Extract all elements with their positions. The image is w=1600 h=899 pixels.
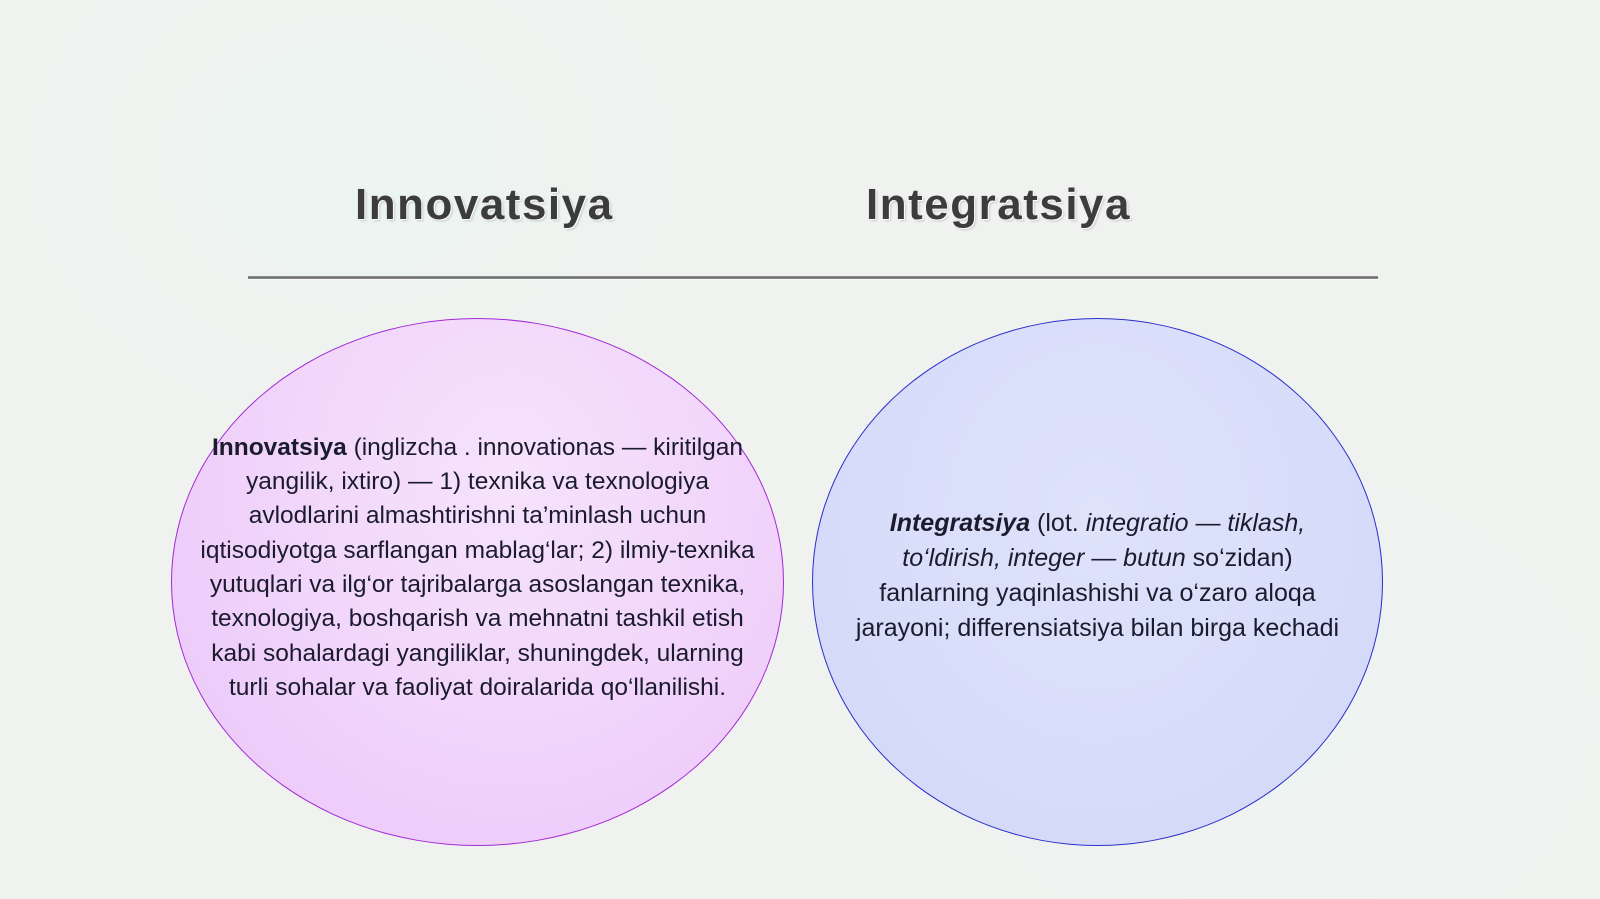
ellipse-integratsiya: Integratsiya (lot. integratio — tiklash,… [812, 318, 1383, 846]
definition-text-integratsiya: Integratsiya (lot. integratio — tiklash,… [813, 506, 1382, 646]
definition-open-paren-integratsiya: (lot. [1030, 509, 1086, 537]
heading-innovatsiya: Innovatsiya [355, 183, 614, 227]
ellipse-innovatsiya: Innovatsiya (inglizcha . innovationas — … [171, 318, 784, 846]
slide-canvas: Innovatsiya Integratsiya Innovatsiya (in… [0, 0, 1600, 899]
definition-text-innovatsiya: Innovatsiya (inglizcha . innovationas — … [172, 431, 783, 705]
definition-body-innovatsiya: (inglizcha . innovationas — kiritilgan y… [200, 434, 754, 701]
term-integratsiya: Integratsiya [890, 509, 1030, 537]
horizontal-divider [248, 276, 1378, 279]
heading-integratsiya: Integratsiya [866, 183, 1131, 227]
term-innovatsiya: Innovatsiya [212, 434, 347, 461]
